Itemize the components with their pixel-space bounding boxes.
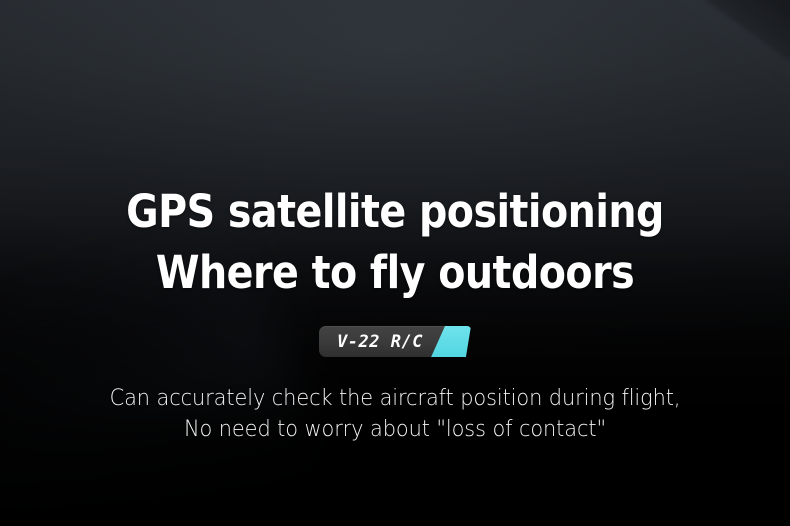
headline-line-2: Where to fly outdoors xyxy=(47,242,742,303)
headline-line-1: GPS satellite positioning xyxy=(47,181,742,242)
promo-banner: GPS satellite positioning Where to fly o… xyxy=(0,0,790,526)
badge-label: V-22 R/C xyxy=(319,326,441,357)
subtitle-line-2: No need to worry about "loss of contact" xyxy=(20,414,771,445)
subtitle-line-1: Can accurately check the aircraft positi… xyxy=(20,383,771,414)
product-model-badge: V-22 R/C xyxy=(319,326,471,357)
banner-content: GPS satellite positioning Where to fly o… xyxy=(0,0,790,526)
